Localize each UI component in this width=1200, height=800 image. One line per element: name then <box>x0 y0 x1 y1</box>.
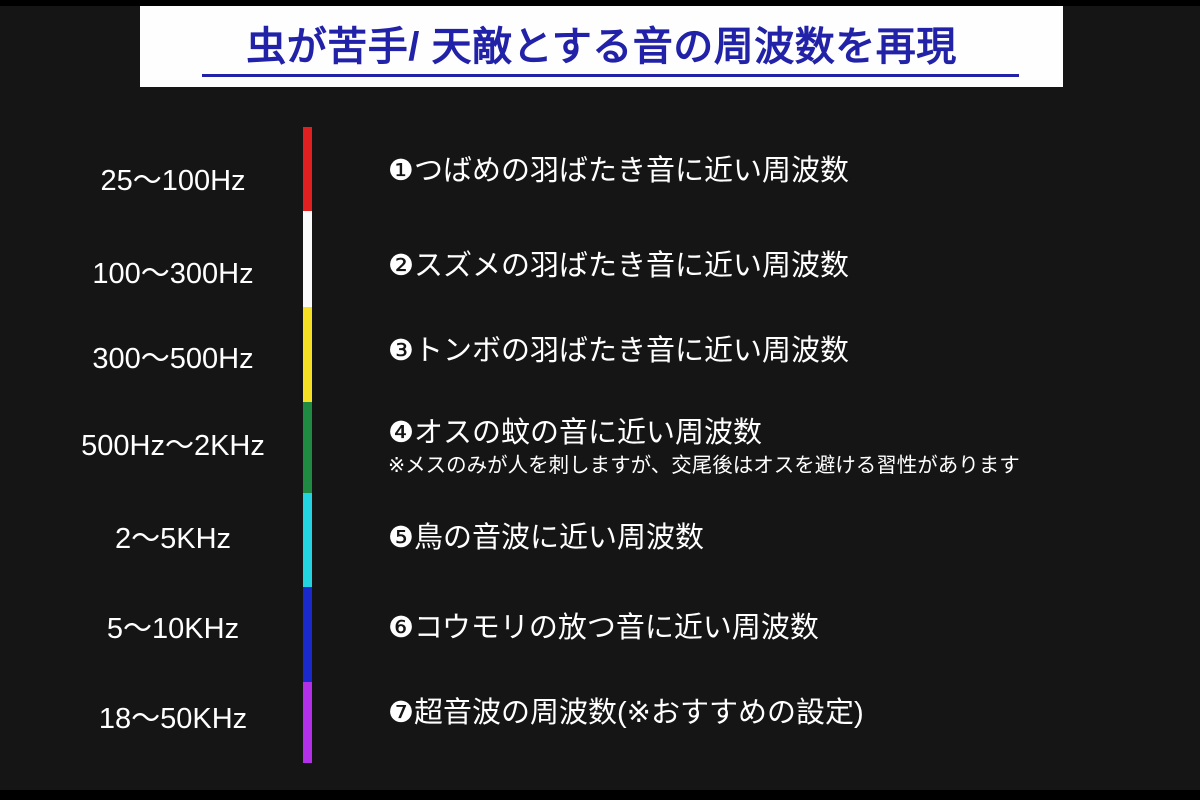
bullet-number-icon-5: ❺ <box>388 522 414 555</box>
title-underline <box>202 74 1019 77</box>
green-segment <box>303 402 312 493</box>
description-text-4: オスの蚊の音に近い周波数 <box>414 417 762 449</box>
description-row-3: ❸トンボの羽ばたき音に近い周波数 <box>388 335 1168 368</box>
frequency-label-7: 18〜50KHz <box>58 695 288 737</box>
description-row-7: ❼超音波の周波数(※おすすめの設定) <box>388 697 1168 730</box>
magenta-segment <box>303 682 312 763</box>
bullet-number-icon-4: ❹ <box>388 417 414 450</box>
frequency-label-4: 500Hz〜2KHz <box>58 422 288 464</box>
frequency-label-2: 100〜300Hz <box>58 250 288 292</box>
bullet-number-icon-3: ❸ <box>388 335 414 368</box>
yellow-segment <box>303 307 312 402</box>
description-main-5: ❺鳥の音波に近い周波数 <box>388 522 1168 555</box>
frequency-label-6: 5〜10KHz <box>58 605 288 647</box>
description-main-2: ❷スズメの羽ばたき音に近い周波数 <box>388 250 1168 283</box>
bullet-number-icon-7: ❼ <box>388 697 414 730</box>
frequency-label-3: 300〜500Hz <box>58 335 288 377</box>
description-row-4: ❹オスの蚊の音に近い周波数※メスのみが人を刺しますが、交尾後はオスを避ける習性が… <box>388 417 1168 479</box>
frequency-spectrum-bar <box>303 127 312 763</box>
description-text-1: つばめの羽ばたき音に近い周波数 <box>414 155 849 187</box>
description-main-4: ❹オスの蚊の音に近い周波数 <box>388 417 1168 450</box>
blue-segment <box>303 587 312 682</box>
red-segment <box>303 127 312 211</box>
description-note-4: ※メスのみが人を刺しますが、交尾後はオスを避ける習性があります <box>388 454 1168 479</box>
description-text-3: トンボの羽ばたき音に近い周波数 <box>414 335 849 367</box>
poster-root: 虫が苦手/ 天敵とする音の周波数を再現 25〜100Hz100〜300Hz300… <box>0 0 1200 800</box>
frequency-label-column: 25〜100Hz100〜300Hz300〜500Hz500Hz〜2KHz2〜5K… <box>58 127 288 763</box>
description-row-1: ❶つばめの羽ばたき音に近い周波数 <box>388 155 1168 188</box>
page-title: 虫が苦手/ 天敵とする音の周波数を再現 <box>140 14 1063 72</box>
description-column: ❶つばめの羽ばたき音に近い周波数❷スズメの羽ばたき音に近い周波数❸トンボの羽ばた… <box>388 127 1178 763</box>
description-text-5: 鳥の音波に近い周波数 <box>414 522 704 554</box>
cyan-segment <box>303 493 312 587</box>
description-main-1: ❶つばめの羽ばたき音に近い周波数 <box>388 155 1168 188</box>
description-row-5: ❺鳥の音波に近い周波数 <box>388 522 1168 555</box>
description-row-6: ❻コウモリの放つ音に近い周波数 <box>388 612 1168 645</box>
description-main-3: ❸トンボの羽ばたき音に近い周波数 <box>388 335 1168 368</box>
description-text-2: スズメの羽ばたき音に近い周波数 <box>414 250 849 282</box>
white-segment <box>303 211 312 307</box>
title-banner: 虫が苦手/ 天敵とする音の周波数を再現 <box>140 6 1063 87</box>
description-main-6: ❻コウモリの放つ音に近い周波数 <box>388 612 1168 645</box>
letterbox-bottom <box>0 790 1200 800</box>
bullet-number-icon-1: ❶ <box>388 155 414 188</box>
description-row-2: ❷スズメの羽ばたき音に近い周波数 <box>388 250 1168 283</box>
description-text-6: コウモリの放つ音に近い周波数 <box>414 612 819 644</box>
frequency-label-1: 25〜100Hz <box>58 157 288 199</box>
description-text-7: 超音波の周波数(※おすすめの設定) <box>414 697 864 729</box>
bullet-number-icon-6: ❻ <box>388 612 414 645</box>
description-main-7: ❼超音波の周波数(※おすすめの設定) <box>388 697 1168 730</box>
bullet-number-icon-2: ❷ <box>388 250 414 283</box>
frequency-label-5: 2〜5KHz <box>58 515 288 557</box>
